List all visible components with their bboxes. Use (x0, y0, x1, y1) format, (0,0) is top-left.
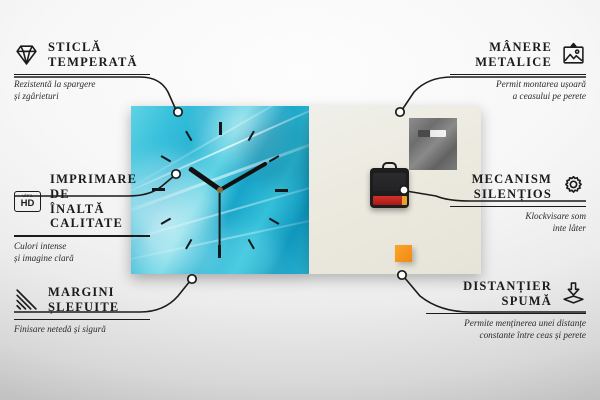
callout-header: MECANISM SILENȚIOS (450, 172, 586, 202)
callout-rule (450, 206, 586, 208)
clock-front-panel (131, 106, 309, 274)
diamond-icon (14, 42, 39, 67)
callout-foam-spacer: DISTANȚIER SPUMĂ Permite menținerea unei… (426, 279, 586, 342)
arrow-down-onto-pad-icon (561, 281, 586, 306)
callout-title: DISTANȚIER SPUMĂ (463, 279, 552, 309)
battery (373, 196, 406, 205)
callout-subtitle: Permit montarea ușoară a ceasului pe per… (450, 79, 586, 103)
callout-header: ultra HD IMPRIMARE DE ÎNALTĂ CALITATE (14, 172, 150, 231)
mechanism-plate (373, 173, 406, 191)
callout-header: MÂNERE METALICE (450, 40, 586, 70)
battery-positive-terminal (402, 196, 407, 205)
metal-hanger (409, 118, 457, 170)
hatched-edge-icon (14, 287, 39, 312)
hanger-slot (418, 130, 446, 137)
callout-title: MECANISM SILENȚIOS (472, 172, 552, 202)
clock-mechanism (370, 168, 409, 208)
foam-spacer (395, 245, 412, 262)
ultra-hd-badge-icon: ultra HD (14, 191, 41, 212)
callout-tempered-glass: STICLĂ TEMPERATĂ Rezistentă la spargere … (14, 40, 150, 103)
connector-node-polished-edges (188, 275, 196, 283)
clock-tick (220, 189, 288, 191)
picture-frame-hanger-icon (561, 42, 586, 67)
feather-glow (184, 227, 282, 274)
hd-label: HD (21, 199, 35, 209)
callout-rule (450, 74, 586, 76)
callout-subtitle: Rezistentă la spargere și zgârieturi (14, 79, 150, 103)
feather-glow (243, 119, 309, 186)
callout-rule (426, 313, 586, 315)
callout-title: MÂNERE METALICE (475, 40, 552, 70)
clock-second-hand (219, 190, 221, 248)
mechanism-bail (382, 162, 397, 170)
callout-subtitle: Permite menținerea unei distanțe constan… (426, 318, 586, 342)
callout-subtitle: Klockvisare som inte låter (450, 211, 586, 235)
callout-rule (14, 235, 150, 237)
callout-title: IMPRIMARE DE ÎNALTĂ CALITATE (50, 172, 150, 231)
callout-title: MARGINI ȘLEFUITE (48, 285, 119, 315)
clock-tick (219, 122, 221, 190)
callout-subtitle: Finisare netedă și sigură (14, 324, 150, 336)
callout-title: STICLĂ TEMPERATĂ (48, 40, 138, 70)
callout-header: DISTANȚIER SPUMĂ (426, 279, 586, 309)
callout-header: MARGINI ȘLEFUITE (14, 285, 150, 315)
clock-tick (152, 189, 220, 191)
callout-rule (14, 74, 150, 76)
product-image (131, 106, 481, 274)
callout-subtitle: Culori intense și imagine clară (14, 241, 150, 265)
callout-metal-handles: MÂNERE METALICE Permit montarea ușoară a… (450, 40, 586, 103)
callout-header: STICLĂ TEMPERATĂ (14, 40, 150, 70)
callout-rule (14, 319, 150, 321)
callout-silent-mechanism: MECANISM SILENȚIOS Klockvisare som inte … (450, 172, 586, 235)
callout-polished-edges: MARGINI ȘLEFUITE Finisare netedă și sigu… (14, 285, 150, 336)
clock-center-cap (217, 187, 223, 193)
gear-icon (561, 174, 586, 199)
callout-high-quality-print: ultra HD IMPRIMARE DE ÎNALTĂ CALITATE Cu… (14, 172, 150, 265)
